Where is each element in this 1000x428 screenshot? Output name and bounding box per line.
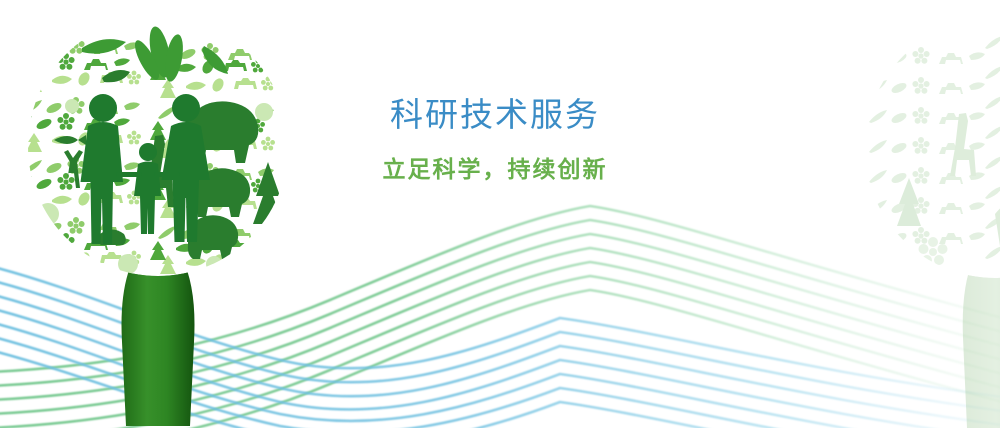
woman-silhouette-icon [162, 94, 211, 242]
turtle-icon [98, 230, 126, 246]
blue-wave-bundle [0, 266, 1000, 428]
bear-icon [194, 168, 250, 217]
banner-text-block: 科研技术服务 立足科学，持续创新 [330, 95, 660, 184]
pine-tree-icon [253, 162, 283, 224]
bird-icon [102, 70, 130, 82]
tree-canopy-right [865, 18, 1000, 278]
giraffe-icon [144, 135, 174, 207]
eco-banner: 科研技术服务 立足科学，持续创新 [0, 0, 1000, 428]
fish-icon [54, 135, 86, 145]
bear-icon [995, 199, 1000, 246]
tree-canopy [14, 16, 288, 276]
page-title: 科研技术服务 [330, 95, 660, 135]
ecology-tree-illustration [8, 6, 308, 426]
page-subtitle: 立足科学，持续创新 [330, 157, 660, 185]
tree-trunk-right [941, 180, 1000, 428]
child-silhouette-icon [134, 143, 161, 234]
ecology-tree-watermark [845, 8, 1000, 428]
family-group [81, 94, 211, 244]
elephant-icon [188, 215, 238, 259]
green-wave-bundle [0, 206, 1000, 428]
pine-tree-icon [897, 178, 921, 226]
deer-icon [64, 150, 83, 188]
rhino-icon [186, 101, 258, 163]
flowing-ribbon-lines [0, 0, 1000, 428]
tree-trunk [78, 169, 238, 426]
man-silhouette-icon [81, 94, 124, 244]
flower-icon [919, 237, 948, 265]
giraffe-icon [950, 113, 976, 176]
